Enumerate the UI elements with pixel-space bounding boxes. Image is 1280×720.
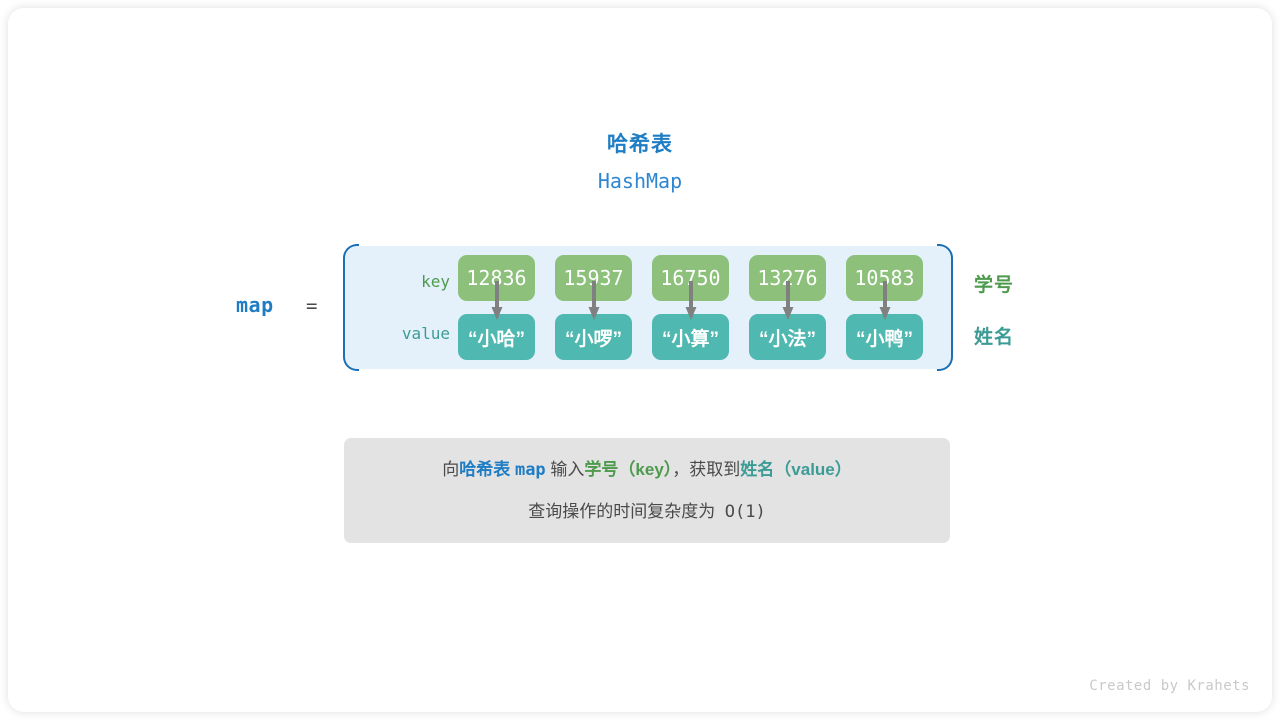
caption-line-2: 查询操作的时间复杂度为 O(1) — [528, 498, 765, 526]
caption-complexity-text: 查询操作的时间复杂度为 — [528, 502, 715, 521]
caption-seg-1: 向 — [442, 460, 459, 479]
caption-line-1: 向哈希表 map 输入学号（key），获取到姓名（value） — [442, 456, 852, 484]
entry-list: 12836 “小哈” 15937 “小啰” 16750 “小算” — [458, 255, 923, 360]
caption-seg-input: 输入 — [550, 460, 584, 479]
caption-box: 向哈希表 map 输入学号（key），获取到姓名（value） 查询操作的时间复… — [344, 438, 950, 543]
caption-seg-map: map — [515, 460, 546, 480]
brace-right-icon — [937, 244, 953, 371]
caption-seg-get: ，获取到 — [672, 460, 740, 479]
caption-complexity-value: O(1) — [725, 502, 766, 522]
key-box: 12836 — [458, 255, 535, 301]
caption-seg-key: 学号（key） — [584, 460, 672, 479]
value-box: “小算” — [652, 314, 729, 360]
brace-left-icon — [343, 244, 359, 371]
caption-seg-hashmap-cn: 哈希表 — [459, 460, 510, 479]
caption-seg-value: 姓名（value） — [740, 460, 851, 479]
page-title: 哈希表 — [8, 130, 1272, 160]
entry-pair: 12836 “小哈” — [458, 255, 535, 360]
page-subtitle: HashMap — [8, 167, 1272, 195]
key-box: 16750 — [652, 255, 729, 301]
key-side-legend: 学号 — [974, 270, 1014, 297]
key-box: 10583 — [846, 255, 923, 301]
entry-pair: 13276 “小法” — [749, 255, 826, 360]
equals-sign: = — [306, 295, 317, 317]
value-box: “小啰” — [555, 314, 632, 360]
value-side-legend: 姓名 — [974, 322, 1014, 349]
entry-pair: 15937 “小啰” — [555, 255, 632, 360]
key-box: 15937 — [555, 255, 632, 301]
title-block: 哈希表 HashMap — [8, 130, 1272, 195]
value-box: “小法” — [749, 314, 826, 360]
key-row-label: key — [370, 272, 450, 291]
value-row-label: value — [370, 324, 450, 343]
key-box: 13276 — [749, 255, 826, 301]
entry-pair: 10583 “小鸭” — [846, 255, 923, 360]
diagram-canvas: 哈希表 HashMap map = key value 12836 “小哈” 1… — [8, 8, 1272, 712]
variable-name-label: map — [236, 293, 274, 317]
entry-pair: 16750 “小算” — [652, 255, 729, 360]
row-labels: key value — [370, 246, 450, 369]
value-box: “小鸭” — [846, 314, 923, 360]
footer-credit: Created by Krahets — [1089, 678, 1250, 694]
hashmap-container: key value 12836 “小哈” 15937 “小啰” — [344, 246, 952, 369]
value-box: “小哈” — [458, 314, 535, 360]
